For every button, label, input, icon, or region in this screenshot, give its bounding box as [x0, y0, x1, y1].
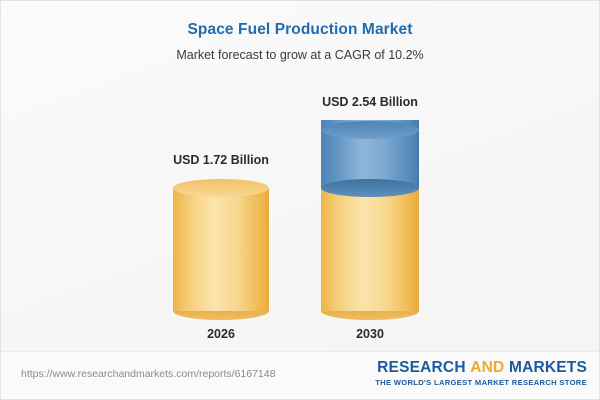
footer-bar: https://www.researchandmarkets.com/repor… — [1, 351, 600, 399]
bar-value-label-2030: USD 2.54 Billion — [322, 95, 418, 109]
cylinder-top-ellipse-2030 — [321, 121, 419, 139]
cylinder-segment-gold-2030 — [321, 188, 419, 311]
bar-value-label-2026: USD 1.72 Billion — [173, 153, 269, 167]
research-and-markets-logo[interactable]: RESEARCH AND MARKETS THE WORLD'S LARGEST… — [375, 359, 587, 387]
plot-area: USD 1.72 Billion 2026 USD 2.54 Billion — [1, 1, 600, 353]
category-label-2026: 2026 — [207, 327, 235, 341]
logo-word-research: RESEARCH — [377, 359, 466, 376]
cylinder-body-gold-2026 — [173, 188, 269, 311]
logo-tagline: THE WORLD'S LARGEST MARKET RESEARCH STOR… — [375, 378, 587, 387]
cylinder-seam-ellipse-2030 — [321, 179, 419, 197]
logo-word-markets: MARKETS — [509, 359, 587, 376]
report-url-link[interactable]: https://www.researchandmarkets.com/repor… — [21, 368, 275, 380]
cylinder-top-ellipse-2026 — [173, 179, 269, 197]
chart-card: Space Fuel Production Market Market fore… — [0, 0, 600, 400]
bar-group-2026: USD 1.72 Billion 2026 — [173, 179, 269, 311]
bar-group-2030: USD 2.54 Billion 2030 — [321, 121, 419, 311]
cylinder-2030[interactable] — [321, 121, 419, 311]
category-label-2030: 2030 — [356, 327, 384, 341]
cylinder-2026[interactable] — [173, 179, 269, 311]
logo-word-and: AND — [470, 359, 504, 376]
logo-wordmark: RESEARCH AND MARKETS — [375, 359, 587, 376]
